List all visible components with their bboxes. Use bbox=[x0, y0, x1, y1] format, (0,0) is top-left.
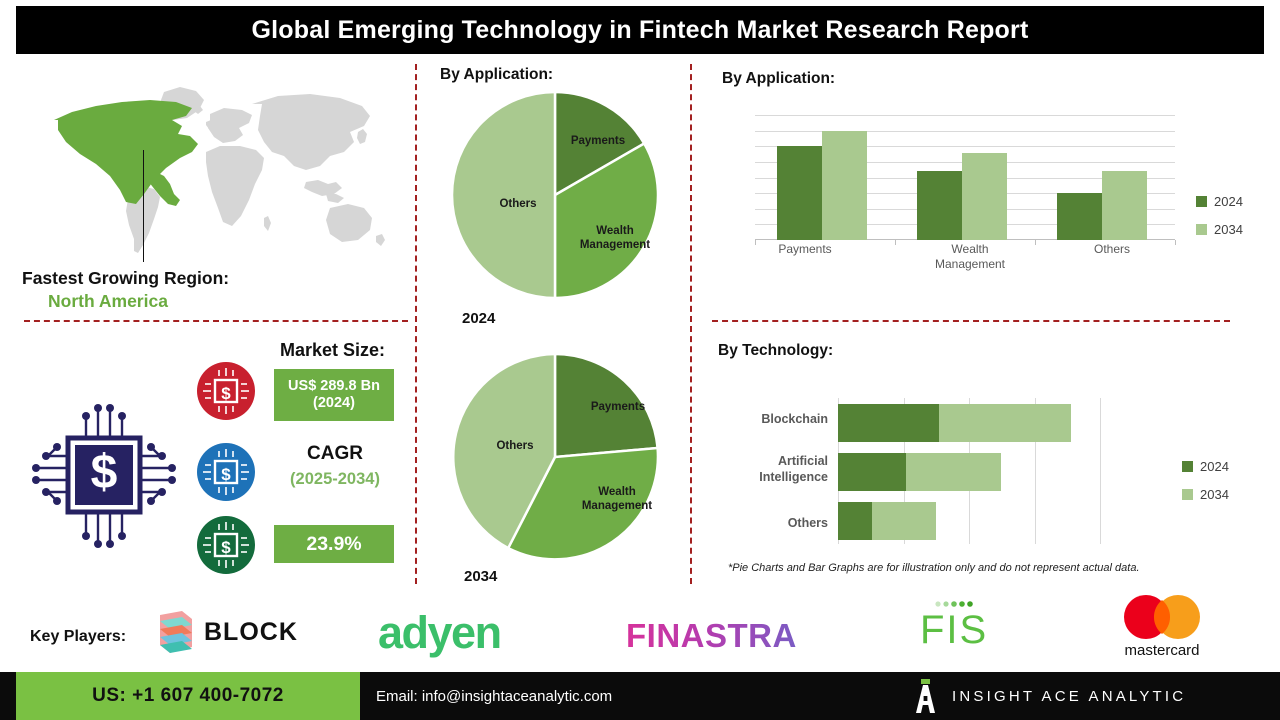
coin-icon-green: $ bbox=[197, 516, 255, 574]
insightace-logo-icon bbox=[912, 679, 938, 713]
hbar-ai-2034 bbox=[906, 453, 1001, 491]
pie-2034-label-wealth: Wealth Management bbox=[565, 485, 669, 514]
svg-text:$: $ bbox=[221, 538, 231, 557]
bar-category-wealth-line2: Management bbox=[900, 257, 1040, 272]
footer-phone: US: +1 607 400-7072 bbox=[92, 685, 284, 707]
legend-swatch-2034 bbox=[1196, 224, 1207, 235]
page-title: Global Emerging Technology in Fintech Ma… bbox=[252, 16, 1029, 45]
pie-2034-label-wealth-line2: Management bbox=[565, 499, 669, 513]
pie-2024-label-wealth: Wealth Management bbox=[563, 224, 667, 253]
market-size-value-box: US$ 289.8 Bn (2024) bbox=[274, 369, 394, 421]
fastest-growing-region-value: North America bbox=[22, 290, 402, 313]
pie-2034-label-payments: Payments bbox=[578, 400, 658, 414]
logo-mastercard-text: mastercard bbox=[1124, 642, 1199, 659]
pie-2024-label-others: Others bbox=[478, 197, 558, 211]
fintech-chip-icon-svg: $ bbox=[24, 400, 184, 555]
mastercard-circles-icon bbox=[1108, 594, 1216, 640]
pie-2024-label-wealth-line1: Wealth bbox=[563, 224, 667, 238]
legend-label-2034: 2034 bbox=[1200, 487, 1229, 502]
divider-vertical-right bbox=[690, 64, 692, 584]
legend-label-2024: 2024 bbox=[1214, 194, 1243, 209]
legend-item-2024: 2024 bbox=[1196, 194, 1243, 209]
world-map-svg bbox=[14, 78, 406, 268]
legend-label-2034: 2034 bbox=[1214, 222, 1243, 237]
pie-chart-2024 bbox=[450, 90, 660, 300]
key-players-label: Key Players: bbox=[30, 628, 126, 646]
footer-brand-block: INSIGHT ACE ANALYTIC bbox=[912, 672, 1186, 720]
map-leader-line bbox=[143, 150, 144, 262]
legend-item-2034: 2034 bbox=[1182, 487, 1229, 502]
legend-item-2024: 2024 bbox=[1182, 459, 1229, 474]
bar-payments-2034 bbox=[822, 131, 867, 240]
header-bar: Global Emerging Technology in Fintech Ma… bbox=[16, 6, 1264, 54]
legend-swatch-2024 bbox=[1182, 461, 1193, 472]
logo-adyen-text: adyen bbox=[378, 610, 501, 655]
fastest-growing-region: Fastest Growing Region: North America bbox=[22, 268, 402, 313]
pie-chart-2034 bbox=[450, 352, 660, 562]
hbar-category-ai-line2: Intelligence bbox=[716, 470, 828, 486]
hbar-category-others: Others bbox=[716, 516, 828, 532]
fintech-chip-icon: $ bbox=[24, 400, 184, 555]
legend-swatch-2024 bbox=[1196, 196, 1207, 207]
logo-fis-text: FIS bbox=[920, 610, 988, 650]
bar-payments-2024 bbox=[777, 146, 822, 240]
coin-icon-blue: $ bbox=[197, 443, 255, 501]
hbar-blockchain-2034 bbox=[939, 404, 1071, 442]
legend-item-2034: 2034 bbox=[1196, 222, 1243, 237]
map-north-america-highlight bbox=[54, 100, 198, 206]
divider-vertical-left bbox=[415, 64, 417, 584]
pie-chart-2024-svg bbox=[450, 90, 660, 300]
pies-section-title: By Application: bbox=[440, 66, 553, 84]
gridline bbox=[755, 131, 1175, 132]
divider-horizontal-left bbox=[24, 320, 408, 322]
logo-finastra: FINASTRA bbox=[626, 614, 797, 656]
pie-2034-label-wealth-line1: Wealth bbox=[565, 485, 669, 499]
cagr-value-box: 23.9% bbox=[274, 525, 394, 563]
hbar-category-blockchain: Blockchain bbox=[716, 412, 828, 428]
legend-label-2024: 2024 bbox=[1200, 459, 1229, 474]
bar-wealth-2034 bbox=[962, 153, 1007, 241]
cagr-label: CAGR bbox=[285, 443, 385, 465]
world-map bbox=[14, 78, 406, 268]
divider-horizontal-right bbox=[712, 320, 1230, 322]
pie-2034-label-others: Others bbox=[475, 439, 555, 453]
legend-swatch-2034 bbox=[1182, 489, 1193, 500]
market-size-title: Market Size: bbox=[280, 340, 385, 361]
by-application-bar-title: By Application: bbox=[722, 70, 835, 88]
logo-fis: FIS bbox=[920, 600, 988, 656]
market-size-value-line1: US$ 289.8 Bn bbox=[288, 378, 380, 395]
bar-category-wealth: Wealth Management bbox=[900, 242, 1040, 272]
pie-2024-slice-others bbox=[452, 92, 555, 298]
hbar-others-2024 bbox=[838, 502, 872, 540]
dollar-glyph: $ bbox=[91, 446, 118, 499]
pie-2024-year: 2024 bbox=[462, 310, 495, 327]
footer-bar: US: +1 607 400-7072 Email: info@insighta… bbox=[0, 672, 1280, 720]
svg-text:$: $ bbox=[221, 384, 231, 403]
pie-2024-label-payments: Payments bbox=[558, 134, 638, 148]
bar-others-2024 bbox=[1057, 193, 1102, 240]
by-technology-bar-chart bbox=[838, 398, 1100, 544]
coin-icon-red: $ bbox=[197, 362, 255, 420]
hbar-blockchain-2024 bbox=[838, 404, 939, 442]
footer-brand-text: INSIGHT ACE ANALYTIC bbox=[952, 688, 1186, 705]
infographic-page: Global Emerging Technology in Fintech Ma… bbox=[0, 0, 1280, 720]
by-application-bar-chart bbox=[755, 115, 1175, 240]
logo-mastercard: mastercard bbox=[1108, 594, 1216, 664]
footer-email-block: Email: info@insightaceanalytic.com bbox=[376, 672, 612, 720]
axis-tick bbox=[895, 240, 896, 245]
svg-text:$: $ bbox=[221, 465, 231, 484]
hbar-ai-2024 bbox=[838, 453, 906, 491]
footer-email: Email: info@insightaceanalytic.com bbox=[376, 688, 612, 705]
logo-block-text: BLOCK bbox=[204, 618, 298, 647]
gridline bbox=[1100, 398, 1101, 544]
bar-category-payments: Payments bbox=[735, 242, 875, 257]
logo-adyen: adyen bbox=[378, 608, 501, 656]
legend-by-application: 2024 2034 bbox=[1196, 194, 1243, 250]
pie-chart-2034-svg bbox=[450, 352, 660, 562]
bar-category-others: Others bbox=[1042, 242, 1182, 257]
gridline bbox=[755, 115, 1175, 116]
hbar-category-ai-line1: Artificial bbox=[716, 454, 828, 470]
legend-by-technology: 2024 2034 bbox=[1182, 459, 1229, 515]
bar-category-wealth-line1: Wealth bbox=[900, 242, 1040, 257]
fastest-growing-region-label: Fastest Growing Region: bbox=[22, 268, 402, 290]
logo-block: BLOCK bbox=[152, 606, 298, 658]
block-mark-icon bbox=[152, 607, 198, 657]
by-technology-title: By Technology: bbox=[718, 342, 833, 360]
market-size-value-line2: (2024) bbox=[313, 395, 355, 412]
cagr-years: (2025-2034) bbox=[265, 470, 405, 489]
bar-wealth-2024 bbox=[917, 171, 962, 240]
hbar-others-2034 bbox=[872, 502, 936, 540]
pie-2024-label-wealth-line2: Management bbox=[563, 238, 667, 252]
hbar-category-ai: Artificial Intelligence bbox=[716, 454, 828, 485]
cagr-value: 23.9% bbox=[306, 533, 361, 555]
fis-dots-icon bbox=[934, 600, 974, 608]
chart-disclaimer-note: *Pie Charts and Bar Graphs are for illus… bbox=[728, 562, 1140, 574]
bar-others-2034 bbox=[1102, 171, 1147, 240]
pie-2034-year: 2034 bbox=[464, 568, 497, 585]
logo-finastra-text: FINASTRA bbox=[626, 619, 797, 652]
footer-phone-block: US: +1 607 400-7072 bbox=[16, 672, 360, 720]
